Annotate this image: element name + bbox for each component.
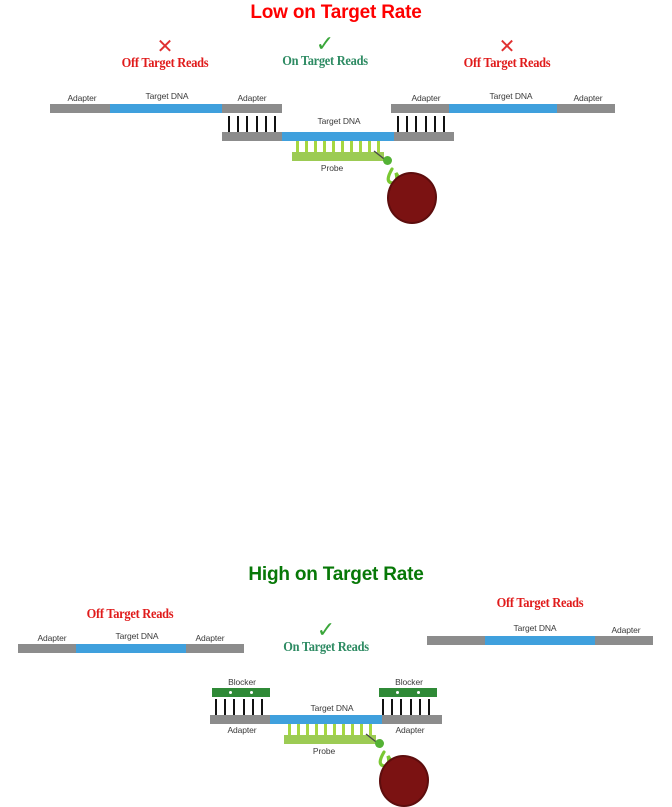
segment-label-target-dna: Target DNA (294, 116, 384, 126)
dna-strand-off-target-left-low (50, 104, 282, 113)
hybridization-ticks-left-low (228, 116, 276, 132)
callout-label: Off Target Reads (456, 55, 557, 71)
blocker-dot (417, 691, 420, 694)
callout-label: Off Target Reads (489, 595, 590, 611)
adapter-segment (18, 644, 76, 653)
dna-strand-on-target-center-low (222, 132, 454, 141)
blocker-dot (250, 691, 253, 694)
target-dna-segment (282, 132, 394, 141)
streptavidin-bead-high (379, 755, 429, 807)
panel-low-on-target-rate: Low on Target Rate ✕ Off Target Reads ✓ … (0, 0, 672, 278)
callout-label: On Target Reads (275, 639, 376, 655)
adapter-segment (222, 132, 282, 141)
segment-label-adapter: Adapter (212, 725, 272, 735)
probe-label-high: Probe (294, 746, 354, 756)
adapter-segment (222, 104, 282, 113)
cross-icon: ✕ (110, 38, 220, 55)
target-dna-segment (449, 104, 557, 113)
adapter-segment (391, 104, 449, 113)
probe-bar-high (284, 735, 376, 744)
segment-label-adapter: Adapter (596, 625, 656, 635)
callout-on-target-center-high: ✓ On Target Reads (271, 622, 381, 655)
segment-label-adapter: Adapter (558, 93, 618, 103)
adapter-segment (210, 715, 270, 724)
target-dna-segment (76, 644, 186, 653)
segment-label-target-dna: Target DNA (490, 623, 580, 633)
callout-label: On Target Reads (274, 53, 375, 69)
dna-strand-off-target-right-low (391, 104, 615, 113)
panel-high-on-target-rate: High on Target Rate Off Target Reads ✓ O… (0, 278, 672, 538)
check-icon: ✓ (270, 36, 380, 53)
segment-label-adapter: Adapter (396, 93, 456, 103)
segment-label-target-dna: Target DNA (122, 91, 212, 101)
segment-label-adapter: Adapter (22, 633, 82, 643)
callout-off-target-left-low: ✕ Off Target Reads (110, 38, 220, 71)
callout-on-target-center-low: ✓ On Target Reads (270, 36, 380, 69)
probe-label-low: Probe (302, 163, 362, 173)
page-title-high: High on Target Rate (0, 564, 672, 586)
segment-label-adapter: Adapter (222, 93, 282, 103)
callout-label: Off Target Reads (79, 606, 180, 622)
callout-label: Off Target Reads (114, 55, 215, 71)
cross-icon: ✕ (452, 38, 562, 55)
blocker-ticks-left-high (215, 699, 263, 715)
target-dna-segment (110, 104, 222, 113)
blocker-ticks-right-high (382, 699, 430, 715)
blocker-label-right: Blocker (379, 677, 439, 687)
adapter-segment (427, 636, 485, 645)
callout-off-target-right-high: Off Target Reads (485, 595, 595, 611)
page-title-low: Low on Target Rate (0, 2, 672, 24)
adapter-segment (394, 132, 454, 141)
probe-biotin-dot-high (375, 739, 384, 748)
dna-strand-off-target-right-high (427, 636, 653, 645)
blocker-left-high (212, 688, 270, 697)
callout-off-target-right-low: ✕ Off Target Reads (452, 38, 562, 71)
callout-off-target-left-high: Off Target Reads (75, 606, 185, 622)
segment-label-adapter: Adapter (180, 633, 240, 643)
adapter-segment (186, 644, 244, 653)
probe-bar-low (292, 152, 384, 161)
probe-biotin-dot-low (383, 156, 392, 165)
adapter-segment (557, 104, 615, 113)
check-icon: ✓ (271, 622, 381, 639)
blocker-dot (229, 691, 232, 694)
dna-strand-off-target-left-high (18, 644, 244, 653)
dna-strand-on-target-center-high (210, 715, 442, 724)
target-dna-segment (485, 636, 595, 645)
streptavidin-bead-low (387, 172, 437, 224)
adapter-segment (50, 104, 110, 113)
adapter-segment (595, 636, 653, 645)
segment-label-target-dna: Target DNA (287, 703, 377, 713)
segment-label-target-dna: Target DNA (92, 631, 182, 641)
segment-label-adapter: Adapter (52, 93, 112, 103)
blocker-dot (396, 691, 399, 694)
segment-label-target-dna: Target DNA (466, 91, 556, 101)
blocker-right-high (379, 688, 437, 697)
blocker-label-left: Blocker (212, 677, 272, 687)
target-dna-segment (270, 715, 382, 724)
hybridization-ticks-right-low (397, 116, 445, 132)
adapter-segment (382, 715, 442, 724)
